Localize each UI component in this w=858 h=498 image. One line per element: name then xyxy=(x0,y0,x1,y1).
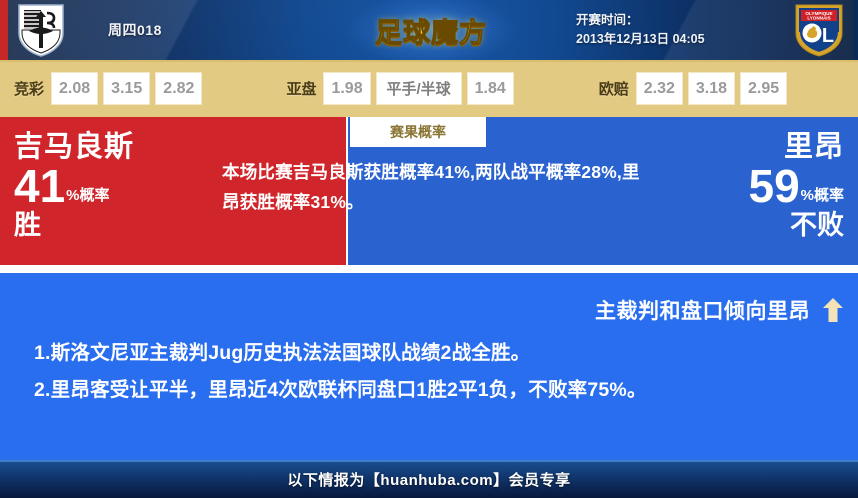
odds-cell[interactable]: 3.15 xyxy=(103,72,150,105)
odds-cell[interactable]: 2.32 xyxy=(636,72,683,105)
home-team-block: 吉马良斯 41 %概率 胜 xyxy=(14,131,134,240)
kickoff-value: 2013年12月13日 04:05 xyxy=(576,30,766,49)
odds-group-yapan: 亚盘 1.98 平手/半球 1.84 xyxy=(286,72,518,105)
odds-group-jingcai: 竞彩 2.08 3.15 2.82 xyxy=(14,72,207,105)
infographic-page: 周四018 足球魔方 开赛时间： 2013年12月13日 04:05 OLYMP… xyxy=(0,0,858,498)
analysis-title: 主裁判和盘口倾向里昂 xyxy=(595,295,810,325)
home-team-name: 吉马良斯 xyxy=(14,131,134,163)
away-team-block: 里昂 59 %概率 不败 xyxy=(748,131,844,240)
kickoff-time-block: 开赛时间： 2013年12月13日 04:05 xyxy=(576,11,766,49)
odds-bar: 竞彩 2.08 3.15 2.82 亚盘 1.98 平手/半球 1.84 欧赔 … xyxy=(0,60,858,117)
match-round-label: 周四018 xyxy=(108,20,162,40)
header-right-accent xyxy=(853,0,858,60)
kickoff-label: 开赛时间： xyxy=(576,11,766,30)
tab-match-result-probability[interactable]: 赛果概率 xyxy=(350,117,486,147)
probability-section: 吉马良斯 41 %概率 胜 里昂 59 %概率 不败 赛果概率 本场比赛吉马良斯… xyxy=(0,117,858,265)
odds-group-label: 竞彩 xyxy=(14,78,44,99)
odds-cell[interactable]: 2.82 xyxy=(155,72,202,105)
brand-logo: 足球魔方 xyxy=(360,6,502,54)
odds-cell[interactable]: 1.98 xyxy=(323,72,370,105)
arrow-up-icon xyxy=(822,297,844,323)
brand-logo-text: 足球魔方 xyxy=(375,11,487,50)
analysis-item-list: 1.斯洛文尼亚主裁判Jug历史执法法国球队战绩2战全胜。 2.里昂客受让平半，里… xyxy=(34,335,834,409)
odds-cell[interactable]: 3.18 xyxy=(688,72,735,105)
footer-membership-note: 以下情报为【huanhuba.com】会员专享 xyxy=(287,469,570,490)
header-left-red-accent xyxy=(0,0,8,60)
match-header: 周四018 足球魔方 开赛时间： 2013年12月13日 04:05 OLYMP… xyxy=(0,0,858,60)
footer-top-line xyxy=(0,460,858,462)
odds-group-oupei: 欧赔 2.32 3.18 2.95 xyxy=(599,72,792,105)
analysis-item: 1.斯洛文尼亚主裁判Jug历史执法法国球队战绩2战全胜。 xyxy=(34,335,834,372)
away-percent-value: 59 xyxy=(748,164,799,208)
odds-bar-top-line xyxy=(0,60,858,62)
odds-group-label: 亚盘 xyxy=(286,78,316,99)
odds-cell[interactable]: 1.84 xyxy=(467,72,514,105)
home-percent-row: 41 %概率 xyxy=(14,164,134,208)
away-percent-row: 59 %概率 xyxy=(748,164,844,208)
odds-cell[interactable]: 2.08 xyxy=(51,72,98,105)
analysis-item: 2.里昂客受让平半，里昂近4次欧联杯同盘口1胜2平1负，不败率75%。 xyxy=(34,372,834,409)
away-team-crest-icon: OLYMPIQUE LYONNAIS L xyxy=(792,3,846,57)
svg-text:LYONNAIS: LYONNAIS xyxy=(807,16,830,21)
home-percent-value: 41 xyxy=(14,164,65,208)
odds-group-label: 欧赔 xyxy=(599,78,629,99)
away-result-label: 不败 xyxy=(748,210,844,240)
home-percent-suffix: %概率 xyxy=(66,188,109,208)
svg-text:L: L xyxy=(822,25,834,47)
probability-summary-text: 本场比赛吉马良斯获胜概率41%,两队战平概率28%,里昂获胜概率31%。 xyxy=(222,157,652,217)
odds-cell[interactable]: 2.95 xyxy=(740,72,787,105)
footer-bar: 以下情报为【huanhuba.com】会员专享 xyxy=(0,460,858,498)
away-team-name: 里昂 xyxy=(748,131,844,163)
analysis-title-block: 主裁判和盘口倾向里昂 xyxy=(595,295,844,325)
section-divider xyxy=(0,265,858,273)
home-result-label: 胜 xyxy=(14,210,134,240)
away-percent-suffix: %概率 xyxy=(801,188,844,208)
home-team-crest-icon xyxy=(14,3,68,57)
odds-cell-handicap[interactable]: 平手/半球 xyxy=(376,72,462,105)
